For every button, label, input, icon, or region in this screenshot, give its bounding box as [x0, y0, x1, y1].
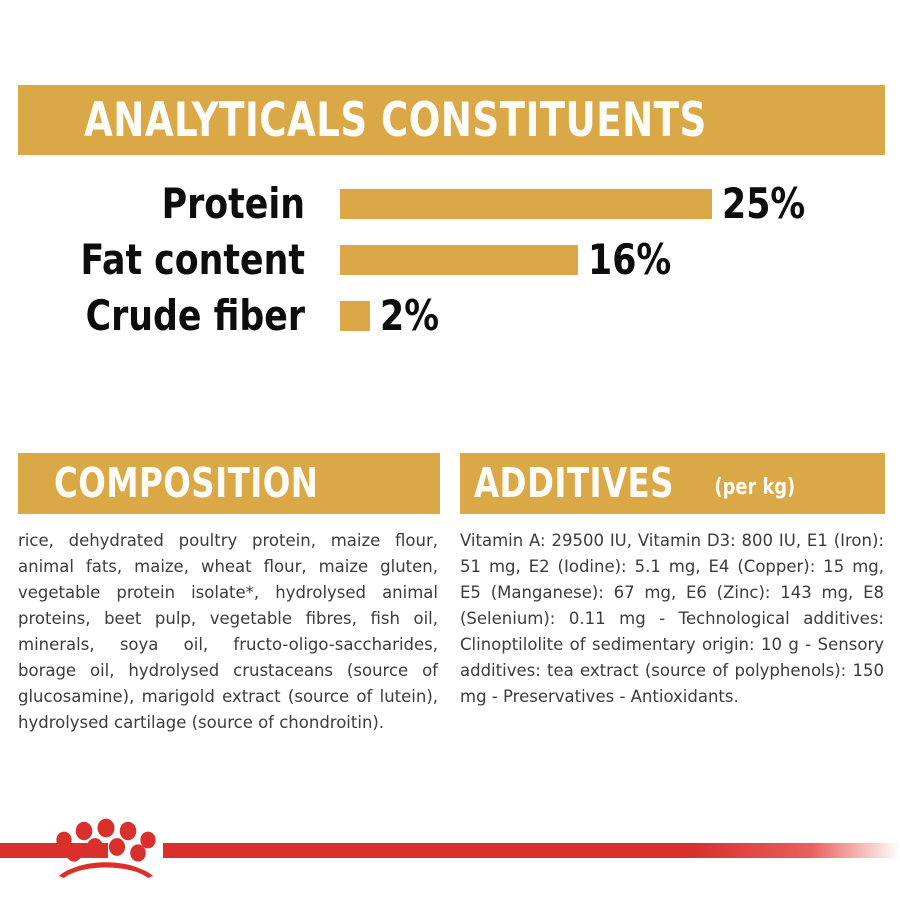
composition-header: COMPOSITION [18, 453, 440, 514]
additives-per-kg-note: (per kg) [715, 477, 796, 499]
chart-bar-crude-fiber [340, 301, 370, 331]
chart-value-protein: 25% [722, 183, 805, 225]
composition-title: COMPOSITION [54, 463, 318, 504]
chart-value-crude-fiber: 2% [380, 295, 439, 337]
additives-list-text: Vitamin A: 29500 IU, Vitamin D3: 800 IU,… [460, 528, 884, 710]
analyticals-constituents-header: ANALYTICALS CONSTITUENTS [18, 85, 885, 155]
royal-canin-crown-icon [55, 812, 157, 878]
chart-value-fat-content: 16% [588, 239, 671, 281]
analyticals-constituents-title: ANALYTICALS CONSTITUENTS [84, 97, 707, 144]
chart-bar-fat-content [340, 245, 578, 275]
chart-row-fat-content: Fat content 16% [0, 232, 900, 288]
product-info-panel: ANALYTICALS CONSTITUENTS Protein 25% Fat… [0, 0, 900, 900]
brand-rule-right [163, 843, 900, 858]
brand-footer [0, 788, 900, 900]
additives-header: ADDITIVES (per kg) [460, 453, 885, 514]
composition-ingredients-text: rice, dehydrated poultry protein, maize … [18, 528, 438, 736]
chart-label-crude-fiber: Crude fiber [24, 295, 305, 337]
analyticals-bar-chart: Protein 25% Fat content 16% Crude fiber … [0, 176, 900, 346]
chart-label-fat-content: Fat content [24, 239, 305, 281]
chart-row-crude-fiber: Crude fiber 2% [0, 288, 900, 344]
chart-label-protein: Protein [24, 183, 305, 225]
chart-row-protein: Protein 25% [0, 176, 900, 232]
chart-bar-protein [340, 189, 712, 219]
additives-title: ADDITIVES [474, 463, 674, 504]
